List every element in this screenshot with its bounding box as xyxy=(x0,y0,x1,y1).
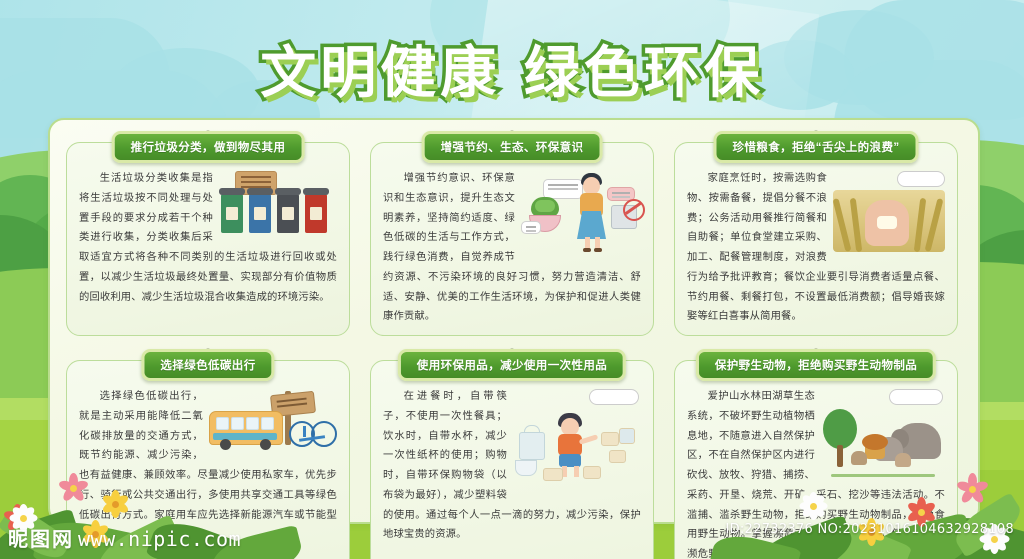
shoe-icon xyxy=(583,248,591,252)
item-icon xyxy=(601,432,619,446)
item-icon xyxy=(583,466,601,479)
panel-heading-text: 珍惜粮食，拒绝“舌尖上的浪费” xyxy=(733,142,900,154)
panel-heading-badge: 珍惜粮食，拒绝“舌尖上的浪费” xyxy=(714,131,919,163)
title-text: 文明健康 绿色环保 xyxy=(0,28,1024,109)
panel-cherish-food[interactable]: 珍惜粮食，拒绝“舌尖上的浪费” 家庭烹饪时，按需选购食物、按需备餐，提倡分餐不浪… xyxy=(674,142,958,336)
panel-heading-text: 选择绿色低碳出行 xyxy=(160,360,255,372)
poster-title: 文明健康 绿色环保 xyxy=(0,28,1024,109)
rice-grain-icon xyxy=(877,216,897,229)
bin-green-icon xyxy=(221,193,243,233)
wheat-stalk-icon xyxy=(850,198,863,252)
illustration-recycling-bins xyxy=(219,171,337,237)
speech-bubble-icon xyxy=(521,221,541,234)
wheat-stalk-icon xyxy=(925,198,944,252)
ground-line xyxy=(831,474,935,477)
illustration-bus-bike xyxy=(209,389,337,459)
watermark-bar: 昵 图 网 www.nipic.com ID:22732376 NO:20231… xyxy=(0,513,1024,559)
vegetable-icon xyxy=(531,197,559,217)
nipic-logo: 昵 图 网 xyxy=(8,529,72,549)
illustration-wheat-hands xyxy=(833,171,945,252)
speech-bubble-icon xyxy=(589,389,639,405)
panel-heading-badge: 推行垃圾分类，做到物尽其用 xyxy=(112,131,305,163)
panel-heading-text: 推行垃圾分类，做到物尽其用 xyxy=(131,142,286,154)
watermark-url: www.nipic.com xyxy=(78,527,241,551)
item-icon xyxy=(543,468,563,481)
torso-icon xyxy=(558,434,582,456)
watermark-logo-group: 昵 图 网 www.nipic.com xyxy=(8,527,241,551)
bin-gray-icon xyxy=(277,193,299,233)
panel-garbage-sorting[interactable]: 推行垃圾分类，做到物尽其用 生活垃圾分类收集是指将生活垃圾按不同处理与处置手段的… xyxy=(66,142,350,336)
item-icon xyxy=(609,450,626,463)
illustration-woman-vegetables xyxy=(521,171,641,253)
shoe-icon xyxy=(594,248,602,252)
panel-heading-badge: 增强节约、生态、环保意识 xyxy=(422,131,603,163)
lion-icon xyxy=(865,437,885,459)
item-icon xyxy=(619,428,635,444)
panel-heading-badge: 使用环保用品，减少使用一次性用品 xyxy=(398,349,626,381)
bin-red-icon xyxy=(305,193,327,233)
tree-icon xyxy=(823,409,857,449)
reusable-bag-icon xyxy=(519,432,545,460)
poster-canvas: 文明健康 绿色环保 推行垃圾分类，做到物尽其用 生活垃 xyxy=(0,0,1024,559)
wheat-stalk-icon xyxy=(914,198,927,252)
cub-icon xyxy=(851,451,867,465)
illustration-child-reusables xyxy=(513,389,641,484)
panel-heading-badge: 保护野生动物，拒绝购买野生动物制品 xyxy=(696,349,936,381)
arm-icon xyxy=(579,434,599,445)
panel-heading-badge: 选择绿色低碳出行 xyxy=(141,349,274,381)
speech-bubble-icon xyxy=(889,389,943,405)
logo-char-3: 网 xyxy=(52,529,72,549)
cup-icon xyxy=(515,460,537,476)
bin-blue-icon xyxy=(249,193,271,233)
panel-heading-text: 增强节约、生态、环保意识 xyxy=(441,142,584,154)
bicycle-icon xyxy=(289,415,337,447)
logo-char-2: 图 xyxy=(30,529,50,549)
cub-icon xyxy=(895,453,911,467)
speech-bubble-icon xyxy=(543,179,583,199)
panel-conservation-awareness[interactable]: 增强节约、生态、环保意识 xyxy=(370,142,654,336)
panel-grid: 推行垃圾分类，做到物尽其用 生活垃圾分类收集是指将生活垃圾按不同处理与处置手段的… xyxy=(48,118,976,520)
watermark-id: ID:22732376 NO:20231016104632928108 xyxy=(725,522,1014,537)
panel-heading-text: 使用环保用品，减少使用一次性用品 xyxy=(417,360,607,372)
leg-icon xyxy=(574,466,579,477)
logo-char-1: 昵 xyxy=(8,529,28,549)
bus-icon xyxy=(209,411,283,445)
wheat-stalk-icon xyxy=(833,198,851,252)
speech-bubble-icon xyxy=(897,171,945,187)
panel-heading-text: 保护野生动物，拒绝购买野生动物制品 xyxy=(715,360,917,372)
illustration-wildlife xyxy=(821,389,945,479)
prohibition-icon xyxy=(623,199,645,221)
